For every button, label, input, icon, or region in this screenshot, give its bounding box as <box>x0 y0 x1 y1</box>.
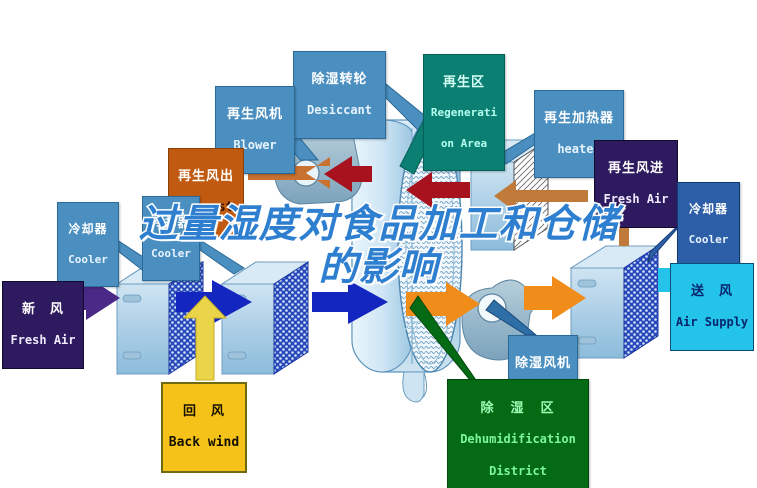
label-desiccant-wheel[interactable]: 除湿转轮 Desiccant <box>293 51 386 139</box>
label-desiccant-wheel-en: Desiccant <box>294 104 385 117</box>
diagram-canvas: XT <box>0 0 757 488</box>
cooling-coil-2 <box>222 262 308 374</box>
label-cooler-right-cn: 冷却器 <box>678 203 739 216</box>
label-cooler-left-outer-en: Cooler <box>58 254 118 266</box>
label-regeneration-heater-cn: 再生加热器 <box>535 111 623 126</box>
label-cooler-left-outer[interactable]: 冷却器 Cooler <box>57 202 119 287</box>
label-regeneration-fresh-air-in-en: Fresh Air <box>595 193 677 206</box>
label-regeneration-fresh-air-in[interactable]: 再生风进 Fresh Air <box>594 140 678 228</box>
label-air-supply-cn: 送 风 <box>671 284 753 299</box>
label-back-wind[interactable]: 回 风 Back wind <box>161 382 247 473</box>
label-dehumidification-district-en-line2: District <box>448 465 588 478</box>
label-dehumidification-district-en-line1: Dehumidification <box>448 433 588 446</box>
label-cooler-left-outer-cn: 冷却器 <box>58 223 118 236</box>
label-regeneration-blower-cn: 再生风机 <box>216 107 294 122</box>
cooling-coil-3 <box>571 246 658 358</box>
label-fresh-air-in-cn: 新 风 <box>3 302 83 317</box>
label-cooler-right-en: Cooler <box>678 234 739 246</box>
label-back-wind-cn: 回 风 <box>163 404 245 419</box>
label-fresh-air-in-en: Fresh Air <box>3 334 83 347</box>
label-exhaust-cn: 再生风出 <box>169 169 243 184</box>
label-dehumidification-district[interactable]: 除 湿 区 Dehumidification District <box>447 379 589 488</box>
label-cooler-left-inner-en: Cooler <box>143 248 199 260</box>
label-fresh-air-in[interactable]: 新 风 Fresh Air <box>2 281 84 369</box>
watermark-text: XT <box>404 318 421 333</box>
label-dehumidification-blower-cn: 除湿风机 <box>509 356 577 371</box>
label-regeneration-fresh-air-in-cn: 再生风进 <box>595 161 677 176</box>
label-air-supply-en: Air Supply <box>671 316 753 329</box>
label-cooler-left-inner[interactable]: 冷却器 Cooler <box>142 196 200 281</box>
label-cooler-right[interactable]: 冷却器 Cooler <box>677 182 740 267</box>
label-back-wind-en: Back wind <box>163 436 245 451</box>
label-air-supply[interactable]: 送 风 Air Supply <box>670 263 754 351</box>
label-regeneration-area-en-line1: Regenerati <box>424 107 504 119</box>
label-regeneration-area-en-line2: on Area <box>424 138 504 150</box>
label-desiccant-wheel-cn: 除湿转轮 <box>294 72 385 87</box>
label-dehumidification-district-cn: 除 湿 区 <box>448 401 588 416</box>
label-regeneration-area-cn: 再生区 <box>424 75 504 90</box>
label-cooler-left-inner-cn: 冷却器 <box>143 217 199 230</box>
label-regeneration-area[interactable]: 再生区 Regenerati on Area <box>423 54 505 171</box>
